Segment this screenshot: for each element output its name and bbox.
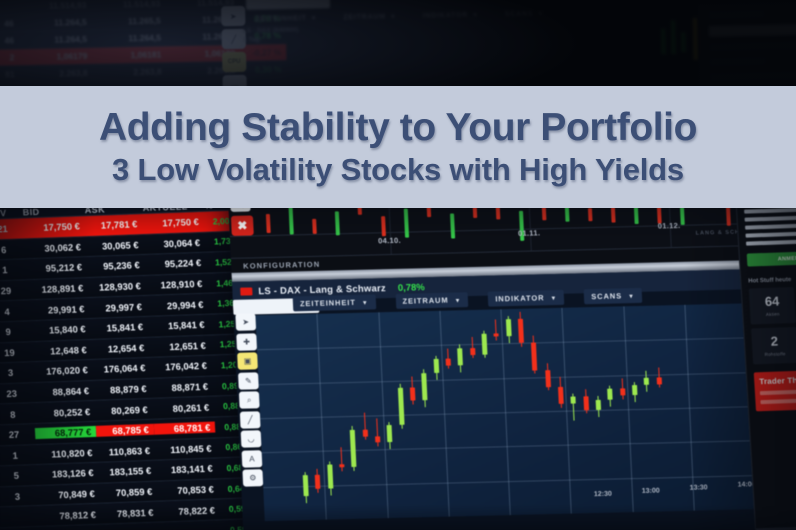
crosshair-icon[interactable]: ✚ xyxy=(236,333,257,350)
candle-body xyxy=(315,475,321,489)
hot-stuff-label: Hot Stuff heute xyxy=(748,275,796,284)
signup-button[interactable]: ANMELDEN xyxy=(747,250,796,266)
cell-bid: 68,777 € xyxy=(34,426,96,439)
chart-menu-indikator[interactable]: INDIKATOR▼ xyxy=(488,289,565,306)
candle xyxy=(404,209,409,238)
stat-caption: Aktien xyxy=(766,311,780,316)
cell-ask: 15,841 € xyxy=(90,321,148,334)
top-quote-cell: 2 xyxy=(0,52,20,63)
top-menu-scans[interactable]: SCANS▼ xyxy=(505,10,544,18)
cell-aktuell: 29,994 € xyxy=(147,298,209,311)
cell-bid: 29,991 € xyxy=(28,303,90,316)
cell-ask: 95,236 € xyxy=(87,259,145,272)
top-tool-palette[interactable]: ➤╱CPU― xyxy=(221,6,249,88)
cell-aktuell: 88,871 € xyxy=(151,381,213,394)
cell-nev: 3 xyxy=(0,490,39,503)
cell-ask: 128,930 € xyxy=(88,280,146,293)
candle xyxy=(312,219,317,234)
panel-line xyxy=(709,57,766,67)
cell-nev: 29 xyxy=(0,284,27,297)
cell-aktuell: 110,845 € xyxy=(155,442,217,455)
cell-aktuell: 128,910 € xyxy=(145,278,207,291)
chevron-down-icon: ▼ xyxy=(628,294,635,300)
candle-body xyxy=(583,396,589,410)
cell-ask: 183,155 € xyxy=(98,465,156,478)
cell-nev: 1 xyxy=(0,264,26,277)
candle-body xyxy=(506,319,512,336)
candle-body xyxy=(607,389,612,399)
top-quote-cell: 11.514,93 xyxy=(93,0,167,10)
close-button[interactable]: ✖ xyxy=(231,215,254,236)
top-quote-cell: 2.263,8 xyxy=(95,66,169,77)
cell-aktuell: 78,822 € xyxy=(158,504,220,517)
chevron-down-icon: ▼ xyxy=(550,295,557,301)
panel-line xyxy=(708,10,765,20)
cell-ask: 176,064 € xyxy=(93,362,151,375)
cell-bid: 95,212 € xyxy=(25,262,87,275)
candle-body xyxy=(398,387,405,425)
text-line xyxy=(745,231,796,238)
candle xyxy=(450,213,455,238)
highlight-icon[interactable]: ▣ xyxy=(237,352,258,369)
stat-card[interactable]: 64Aktien xyxy=(749,287,796,325)
text-line xyxy=(745,215,796,222)
curve-icon[interactable]: ◡ xyxy=(241,430,262,447)
record-indicator-icon xyxy=(240,287,252,295)
cell-nev xyxy=(0,516,39,518)
date-tick: 04.10. xyxy=(378,236,401,246)
candle-body xyxy=(433,359,439,373)
candle-wick xyxy=(495,320,497,341)
candle-body xyxy=(422,373,428,401)
stat-value: 64 xyxy=(764,294,779,307)
candle-body xyxy=(632,385,637,395)
quote-board-rows: 2117,750 €17,781 €17,750 €2,00 %630,062 … xyxy=(0,210,261,530)
chevron-down-icon: ▼ xyxy=(311,15,318,21)
candle xyxy=(726,206,731,226)
cell-aktuell: 30,064 € xyxy=(143,237,205,250)
top-quote-cell: 11.264,5 xyxy=(20,17,94,28)
panel-line xyxy=(709,24,796,37)
cell-aktuell: 95,224 € xyxy=(144,257,206,270)
text-line xyxy=(746,240,796,246)
candle-body xyxy=(410,387,416,401)
top-instrument-name: LS - DAX (846900) xyxy=(243,25,299,35)
cell-ask: 29,997 € xyxy=(89,301,147,314)
candle xyxy=(611,206,616,223)
candle-body xyxy=(656,378,661,385)
cpu-icon[interactable]: CPU xyxy=(222,52,246,72)
mini-candle xyxy=(661,29,667,55)
candle-body xyxy=(457,348,463,365)
panel-line xyxy=(709,41,796,52)
cell-nev: 23 xyxy=(0,387,33,400)
top-instrument-label: LS - DAX (846900) 1 Tag xyxy=(243,25,299,45)
text-line xyxy=(745,222,796,229)
cell-ask: 88,879 € xyxy=(94,383,152,396)
sidebar-article: Trader Think Tank Trading xyxy=(736,206,796,246)
cell-aktuell: 15,841 € xyxy=(148,319,210,332)
top-quote-cell: 81 xyxy=(0,69,21,80)
top-quote-change: 0,30 % xyxy=(243,64,287,75)
candle-body xyxy=(531,343,537,371)
cell-bid: 78,812 € xyxy=(39,508,101,521)
sidebar-stat-grid: 64Aktien5Indizes2Rohstoffe8Devisen xyxy=(742,285,796,365)
time-tick: 12:30 xyxy=(594,491,612,498)
date-tick: 01.12. xyxy=(658,221,681,231)
candle-body xyxy=(482,334,488,355)
candle xyxy=(542,206,547,220)
cell-nev: 5 xyxy=(0,469,37,482)
cell-nev: 21 xyxy=(0,223,24,236)
cell-nev: 19 xyxy=(0,346,31,359)
headline: Adding Stability to Your Portfolio xyxy=(99,108,697,148)
top-quote-cell: 2.263,8 xyxy=(21,68,95,79)
top-trading-screen: 11.514,9311.514,9311.514,930,79 %4611.26… xyxy=(0,0,796,88)
top-quote-cell: 1,06181 xyxy=(94,49,168,60)
quote-board: NEV BID ASK AKTUELL % 2117,750 €17,781 €… xyxy=(0,206,261,530)
top-quote-cell: 11.264,5 xyxy=(20,34,94,45)
candle xyxy=(564,206,569,222)
cursor-icon[interactable]: ➤ xyxy=(221,6,245,26)
top-menu-zeitraum[interactable]: ZEITRAUM▼ xyxy=(343,13,396,21)
top-quote-cell: 11.514,93 xyxy=(19,0,93,11)
cell-aktuell: 68,781 € xyxy=(154,422,216,435)
zoom-icon[interactable]: ⌕ xyxy=(239,391,260,408)
cell-bid: 70,849 € xyxy=(38,488,100,501)
stat-caption: Rohstoffe xyxy=(765,351,786,357)
candle-body xyxy=(620,389,625,396)
top-right-panel xyxy=(699,3,796,87)
candle-body xyxy=(339,464,344,468)
candle xyxy=(266,214,271,233)
cell-ask: 70,859 € xyxy=(99,486,157,499)
cell-aktuell: 176,042 € xyxy=(150,360,212,373)
chart-window: 04.10.01.11.01.12. LANG & SCHWARZ KONFIG… xyxy=(228,206,796,530)
cell-bid: 110,820 € xyxy=(36,447,98,460)
cell-nev: 27 xyxy=(0,428,35,441)
chevron-down-icon: ▼ xyxy=(454,298,461,304)
chevron-down-icon: ▼ xyxy=(472,12,479,18)
date-tick: 01.11. xyxy=(518,228,541,238)
mini-candle xyxy=(692,18,698,60)
candle-body xyxy=(558,387,564,404)
promo-block[interactable]: Trader Think xyxy=(754,369,796,411)
candle-body xyxy=(327,465,333,489)
top-quote-cell: 46 xyxy=(0,35,20,46)
top-instrument-interval: 1 Tag xyxy=(243,35,299,45)
sidebar-footer xyxy=(756,525,796,530)
promo-line xyxy=(760,388,796,395)
cell-aktuell: 17,750 € xyxy=(142,216,204,229)
promo-line xyxy=(760,398,796,404)
candle xyxy=(588,208,593,221)
chart-menu-zeitraum[interactable]: ZEITRAUM▼ xyxy=(395,292,468,309)
screenshot-root: 11.514,9311.514,9311.514,930,79 %4611.26… xyxy=(0,0,796,530)
candle xyxy=(495,206,500,219)
cell-ask: 12,654 € xyxy=(91,342,149,355)
candle xyxy=(381,216,386,236)
chevron-down-icon: ▼ xyxy=(390,14,397,20)
time-tick: 13:30 xyxy=(690,484,708,491)
cell-bid: 15,840 € xyxy=(29,323,91,336)
cell-ask: 30,065 € xyxy=(86,239,144,252)
cell-bid: 30,062 € xyxy=(24,241,86,254)
cell-nev: 9 xyxy=(0,326,29,339)
cell-aktuell: 70,853 € xyxy=(157,483,219,496)
candle xyxy=(289,206,294,234)
top-quote-cell: 46 xyxy=(0,18,20,29)
candle-body xyxy=(446,359,451,366)
cell-bid: 183,126 € xyxy=(37,467,99,480)
top-quote-cell: 1,06179 xyxy=(20,51,94,62)
top-quote-change: -0,27 % xyxy=(242,47,286,58)
time-tick: 13:00 xyxy=(642,487,660,494)
candle-body xyxy=(644,378,649,385)
mini-candle xyxy=(670,20,676,54)
pencil-icon[interactable]: ✎ xyxy=(238,372,259,389)
cell-nev: 6 xyxy=(0,243,25,256)
cell-ask: 78,831 € xyxy=(101,506,159,519)
cell-ask: 80,269 € xyxy=(95,403,153,416)
cell-ask: 17,781 € xyxy=(84,218,142,231)
candle xyxy=(335,211,340,235)
candle-body xyxy=(545,370,551,387)
candle-body xyxy=(350,430,357,468)
bottom-trading-screen: NEV BID ASK AKTUELL % 2117,750 €17,781 €… xyxy=(0,206,796,530)
top-quote-cell: 11.265,5 xyxy=(94,15,168,26)
top-quote-cell: 11.264,5 xyxy=(94,32,168,43)
cell-nev: 3 xyxy=(0,367,32,380)
top-quote-cell xyxy=(0,6,19,7)
cell-bid: 17,750 € xyxy=(23,220,85,233)
trendline-icon[interactable]: ╱ xyxy=(240,411,261,428)
panel-line xyxy=(710,71,796,82)
chart-menu-zeiteinheit[interactable]: ZEITEINHEIT▼ xyxy=(293,294,376,311)
cell-nev: 8 xyxy=(0,408,34,421)
candle-body xyxy=(494,333,499,337)
cell-aktuell: 80,261 € xyxy=(152,401,214,414)
candle-body xyxy=(375,436,380,443)
top-menu-indikator[interactable]: INDIKATOR▼ xyxy=(423,11,479,19)
footer-cell xyxy=(756,526,796,530)
stat-value: 2 xyxy=(770,335,778,348)
candle-body xyxy=(470,348,475,355)
candle-body xyxy=(387,425,393,442)
candle-body xyxy=(571,397,576,404)
chart-menu-scans[interactable]: SCANS▼ xyxy=(584,287,642,303)
chevron-down-icon: ▼ xyxy=(537,11,544,17)
cell-nev: 1 xyxy=(0,449,36,462)
cell-bid: 128,891 € xyxy=(26,282,88,295)
cursor-icon[interactable]: ➤ xyxy=(235,313,256,330)
candle-body xyxy=(596,400,601,410)
cell-aktuell: 12,651 € xyxy=(149,339,211,352)
cell-bid: 88,864 € xyxy=(32,385,94,398)
cell-ask: 68,785 € xyxy=(96,424,154,437)
top-menu-zeiteinheit[interactable]: ZEITEINHEIT▼ xyxy=(255,14,317,22)
candle-body xyxy=(362,429,367,436)
candle-body xyxy=(303,475,309,496)
cell-ask: 110,863 € xyxy=(97,445,155,458)
text-icon[interactable]: A xyxy=(242,450,263,467)
cell-bid: 80,252 € xyxy=(33,406,95,419)
chevron-down-icon: ▼ xyxy=(362,300,369,306)
candle xyxy=(633,206,638,224)
promo-title: Trader Think xyxy=(759,374,796,386)
title-banner: Adding Stability to Your Portfolio 3 Low… xyxy=(0,86,796,208)
subheadline: 3 Low Volatility Stocks with High Yields xyxy=(112,154,684,187)
candle-body xyxy=(518,319,524,343)
stat-card[interactable]: 2Rohstoffe xyxy=(751,327,796,365)
cell-bid: 12,648 € xyxy=(30,344,92,357)
cell-bid: 176,020 € xyxy=(31,364,93,377)
settings-icon[interactable]: ⚙ xyxy=(242,469,263,486)
column-header-nev: NEV xyxy=(0,207,23,219)
cell-aktuell: 183,141 € xyxy=(156,463,218,476)
cell-nev: 4 xyxy=(0,305,28,318)
mini-candle xyxy=(681,32,686,52)
